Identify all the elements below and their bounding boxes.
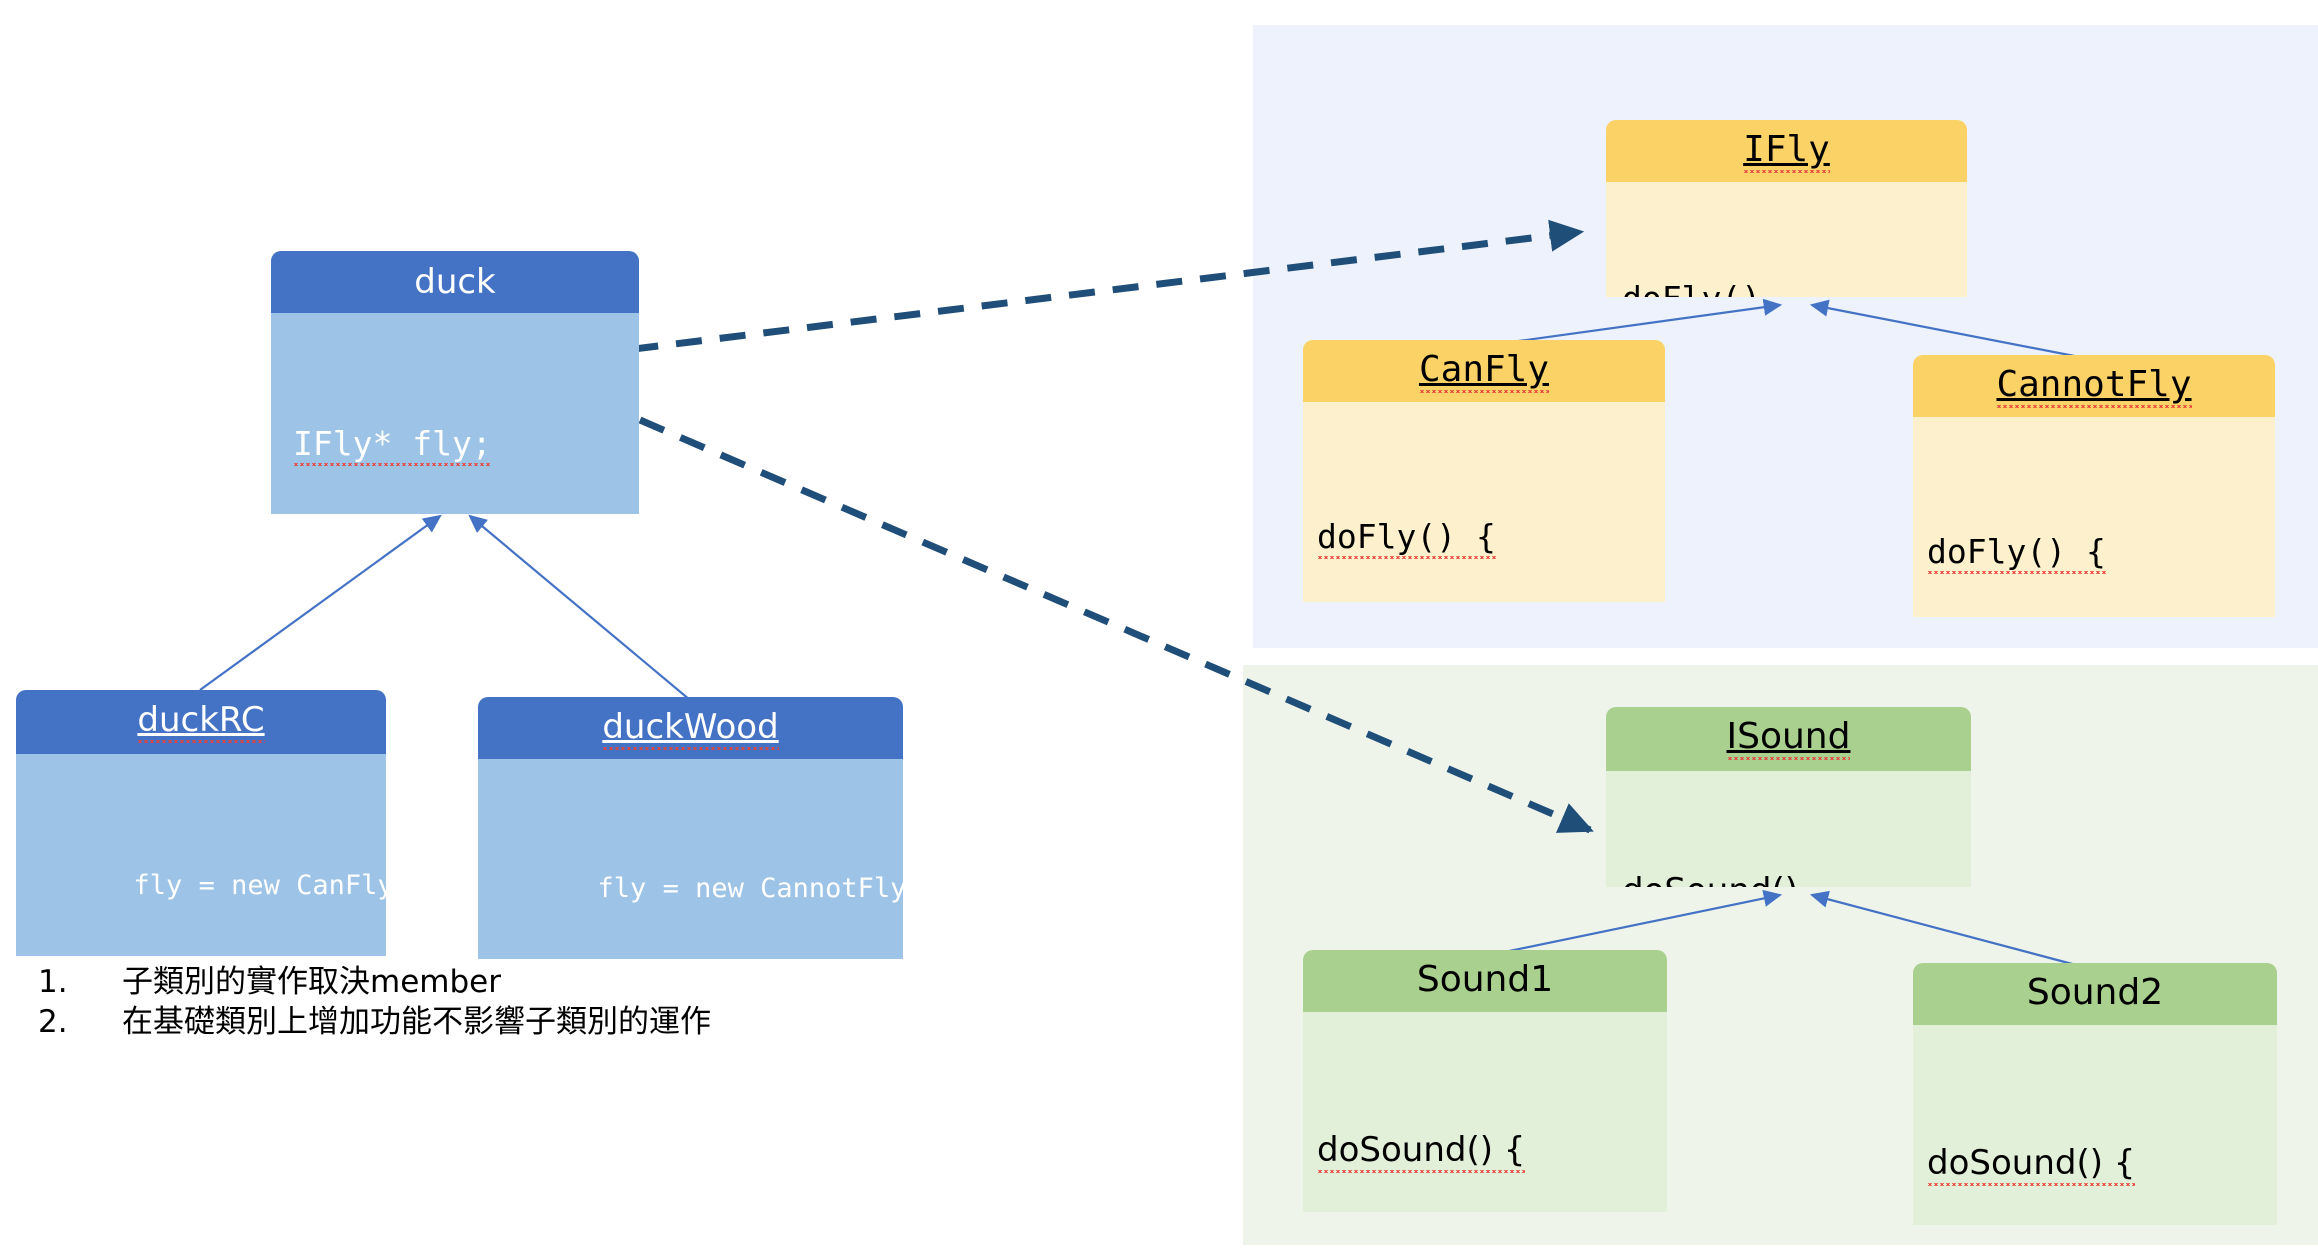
link-duckrc-to-duck xyxy=(200,516,440,690)
member-dofly-ifly: doFly() xyxy=(1622,279,1761,297)
class-title-sound1: Sound1 xyxy=(1303,950,1667,1012)
class-title-canfly-text: CanFly xyxy=(1419,349,1549,393)
member-fly-assign-duckwood: fly = new CannotFly() xyxy=(598,873,903,904)
class-title-ifly: IFly xyxy=(1606,120,1967,182)
member-dosound-open-sound2: doSound() { xyxy=(1927,1143,2135,1186)
class-members-sound2: doSound() { “Sound2” } xyxy=(1913,1025,2277,1225)
class-box-isound[interactable]: ISound doSound() … xyxy=(1606,707,1971,887)
member-fly-assign-duckrc: fly = new CanFly() xyxy=(134,870,386,901)
class-title-duckwood: duckWood xyxy=(478,697,903,759)
class-box-sound1[interactable]: Sound1 doSound() { “Sound1” } xyxy=(1303,950,1667,1212)
class-title-canfly: CanFly xyxy=(1303,340,1665,402)
class-title-isound: ISound xyxy=(1606,707,1971,771)
member-dosound-isound: doSound() xyxy=(1622,871,1798,887)
class-members-isound: doSound() … xyxy=(1606,771,1971,887)
notes-list: 1. 子類別的實作取決member 2. 在基礎類別上增加功能不影響子類別的運作 xyxy=(38,962,938,1043)
note-text-1: 子類別的實作取決member xyxy=(122,962,938,1002)
diagram-canvas: duck IFly* fly; Isound* sound; … duckRC … xyxy=(0,0,2318,1258)
class-members-canfly: doFly() { “Can fly” } xyxy=(1303,402,1665,602)
class-box-duckrc[interactable]: duckRC fly = new CanFly() xyxy=(16,690,386,956)
class-members-duckwood: fly = new CannotFly() xyxy=(478,759,903,959)
class-title-duck: duck xyxy=(271,251,639,313)
member-dofly-open-cannotfly: doFly() { xyxy=(1927,532,2106,574)
class-box-duck[interactable]: duck IFly* fly; Isound* sound; … xyxy=(271,251,639,514)
class-box-sound2[interactable]: Sound2 doSound() { “Sound2” } xyxy=(1913,963,2277,1225)
class-box-duckwood[interactable]: duckWood fly = new CannotFly() xyxy=(478,697,903,959)
class-title-sound2: Sound2 xyxy=(1913,963,2277,1025)
member-ifly-fly: IFly* fly; xyxy=(293,424,492,466)
class-title-duckwood-text: duckWood xyxy=(602,707,778,750)
note-item-2: 2. 在基礎類別上增加功能不影響子類別的運作 xyxy=(38,1002,938,1042)
class-title-cannotfly-text: CannotFly xyxy=(1996,364,2191,408)
note-item-1: 1. 子類別的實作取決member xyxy=(38,962,938,1002)
member-dosound-open-sound1: doSound() { xyxy=(1317,1130,1525,1173)
link-duckwood-to-duck xyxy=(470,516,690,700)
class-title-cannotfly: CannotFly xyxy=(1913,355,2275,417)
class-members-sound1: doSound() { “Sound1” } xyxy=(1303,1012,1667,1212)
class-title-duckrc: duckRC xyxy=(16,690,386,754)
class-title-isound-text: ISound xyxy=(1727,716,1851,760)
class-members-ifly: doFly() … xyxy=(1606,182,1967,297)
member-dofly-open-canfly: doFly() { xyxy=(1317,517,1496,559)
note-number-2: 2. xyxy=(38,1002,122,1042)
note-text-2: 在基礎類別上增加功能不影響子類別的運作 xyxy=(122,1002,938,1042)
class-box-ifly[interactable]: IFly doFly() … xyxy=(1606,120,1967,297)
class-title-ifly-text: IFly xyxy=(1743,129,1830,173)
note-number-1: 1. xyxy=(38,962,122,1002)
class-box-canfly[interactable]: CanFly doFly() { “Can fly” } xyxy=(1303,340,1665,602)
class-box-cannotfly[interactable]: CannotFly doFly() { “Cannot fly” } xyxy=(1913,355,2275,617)
class-members-duckrc: fly = new CanFly() xyxy=(16,754,386,956)
class-members-cannotfly: doFly() { “Cannot fly” } xyxy=(1913,417,2275,617)
class-title-duckrc-text: duckRC xyxy=(137,700,264,743)
class-members-duck: IFly* fly; Isound* sound; … xyxy=(271,313,639,514)
